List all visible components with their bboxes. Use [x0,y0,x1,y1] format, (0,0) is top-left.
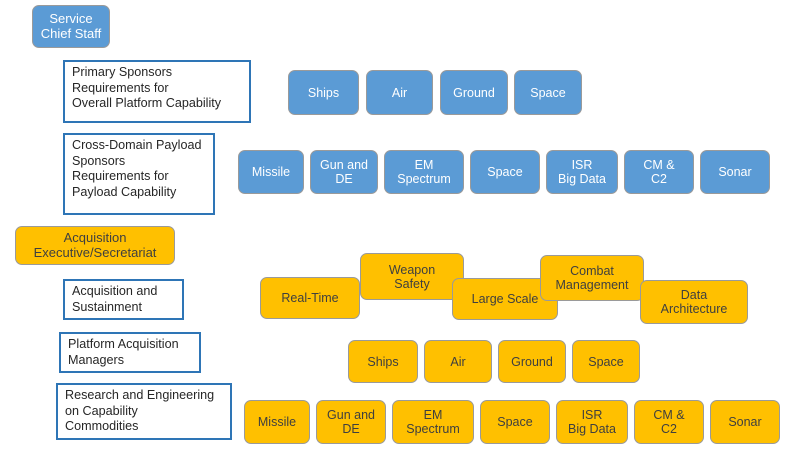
chip-payload-capability-row-orange-em-spectrum[interactable]: EM Spectrum [392,400,474,444]
chip-platform-capability-row-blue-air[interactable]: Air [366,70,433,115]
node-acquisition-executive-secretariat[interactable]: Acquisition Executive/Secretariat [15,226,175,265]
chip-capability-commodities-row-weapon-safety[interactable]: Weapon Safety [360,253,464,300]
chip-payload-capability-row-orange-space[interactable]: Space [480,400,550,444]
node-service-chief-staff[interactable]: Service Chief Staff [32,5,110,48]
box-cross-domain-payload-sponsors[interactable]: Cross-Domain Payload Sponsors Requiremen… [63,133,215,215]
diagram-canvas: Service Chief StaffAcquisition Executive… [0,0,800,450]
chip-payload-capability-row-blue-space[interactable]: Space [470,150,540,194]
chip-payload-capability-row-blue-sonar[interactable]: Sonar [700,150,770,194]
chip-platform-capability-row-orange-air[interactable]: Air [424,340,492,383]
chip-payload-capability-row-blue-gun-and-de[interactable]: Gun and DE [310,150,378,194]
chip-platform-capability-row-orange-space[interactable]: Space [572,340,640,383]
chip-payload-capability-row-orange-sonar[interactable]: Sonar [710,400,780,444]
chip-capability-commodities-row-combat-management[interactable]: Combat Management [540,255,644,301]
chip-platform-capability-row-orange-ground[interactable]: Ground [498,340,566,383]
chip-payload-capability-row-orange-cm-c2[interactable]: CM & C2 [634,400,704,444]
chip-payload-capability-row-blue-missile[interactable]: Missile [238,150,304,194]
chip-payload-capability-row-orange-missile[interactable]: Missile [244,400,310,444]
box-acquisition-and-sustainment[interactable]: Acquisition and Sustainment [63,279,184,320]
chip-payload-capability-row-blue-isr-big-data[interactable]: ISR Big Data [546,150,618,194]
chip-platform-capability-row-blue-space[interactable]: Space [514,70,582,115]
chip-payload-capability-row-blue-em-spectrum[interactable]: EM Spectrum [384,150,464,194]
chip-payload-capability-row-blue-cm-c2[interactable]: CM & C2 [624,150,694,194]
chip-platform-capability-row-blue-ships[interactable]: Ships [288,70,359,115]
box-platform-acquisition-managers[interactable]: Platform Acquisition Managers [59,332,201,373]
chip-capability-commodities-row-data-architecture[interactable]: Data Architecture [640,280,748,324]
box-primary-sponsors-requirements[interactable]: Primary Sponsors Requirements for Overal… [63,60,251,123]
chip-payload-capability-row-orange-isr-big-data[interactable]: ISR Big Data [556,400,628,444]
chip-capability-commodities-row-real-time[interactable]: Real-Time [260,277,360,319]
chip-platform-capability-row-orange-ships[interactable]: Ships [348,340,418,383]
box-research-and-engineering-commodities[interactable]: Research and Engineering on Capability C… [56,383,232,440]
chip-payload-capability-row-orange-gun-and-de[interactable]: Gun and DE [316,400,386,444]
chip-platform-capability-row-blue-ground[interactable]: Ground [440,70,508,115]
